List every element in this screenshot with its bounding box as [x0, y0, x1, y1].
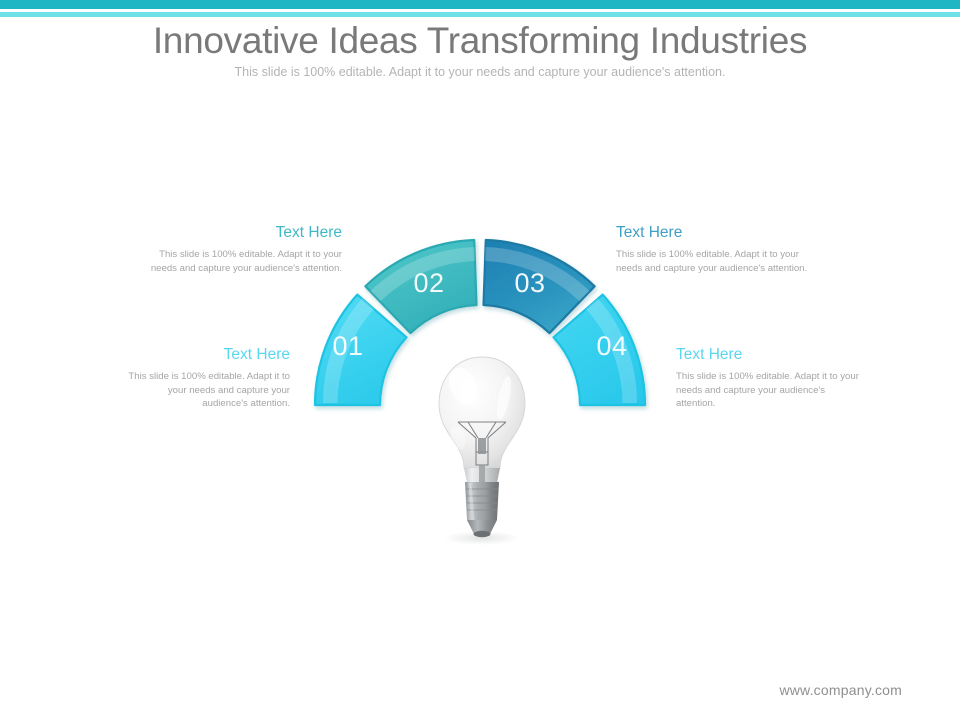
- callout-01-heading: Text Here: [120, 346, 290, 363]
- callout-03[interactable]: Text Here This slide is 100% editable. A…: [616, 224, 816, 275]
- wheel-segment-02-number: 02: [413, 268, 444, 298]
- callout-04[interactable]: Text Here This slide is 100% editable. A…: [676, 346, 866, 411]
- slide-canvas: Innovative Ideas Transforming Industries…: [0, 0, 960, 720]
- footer-website: www.company.com: [779, 682, 902, 698]
- callout-04-heading: Text Here: [676, 346, 866, 363]
- top-accent-bar-dark: [0, 0, 960, 9]
- callout-02-body: This slide is 100% editable. Adapt it to…: [140, 248, 342, 275]
- wheel-segment-04-number: 04: [596, 331, 627, 361]
- page-subtitle: This slide is 100% editable. Adapt it to…: [0, 65, 960, 79]
- callout-03-heading: Text Here: [616, 224, 816, 241]
- callout-01-body: This slide is 100% editable. Adapt it to…: [120, 370, 290, 411]
- callout-02[interactable]: Text Here This slide is 100% editable. A…: [140, 224, 342, 275]
- page-title: Innovative Ideas Transforming Industries: [0, 20, 960, 62]
- callout-03-body: This slide is 100% editable. Adapt it to…: [616, 248, 816, 275]
- lightbulb-icon: [428, 352, 536, 552]
- callout-04-body: This slide is 100% editable. Adapt it to…: [676, 370, 866, 411]
- wheel-segment-01-number: 01: [332, 331, 363, 361]
- wheel-segment-03-number: 03: [514, 268, 545, 298]
- callout-02-heading: Text Here: [140, 224, 342, 241]
- top-accent-bar-light: [0, 12, 960, 17]
- callout-01[interactable]: Text Here This slide is 100% editable. A…: [120, 346, 290, 411]
